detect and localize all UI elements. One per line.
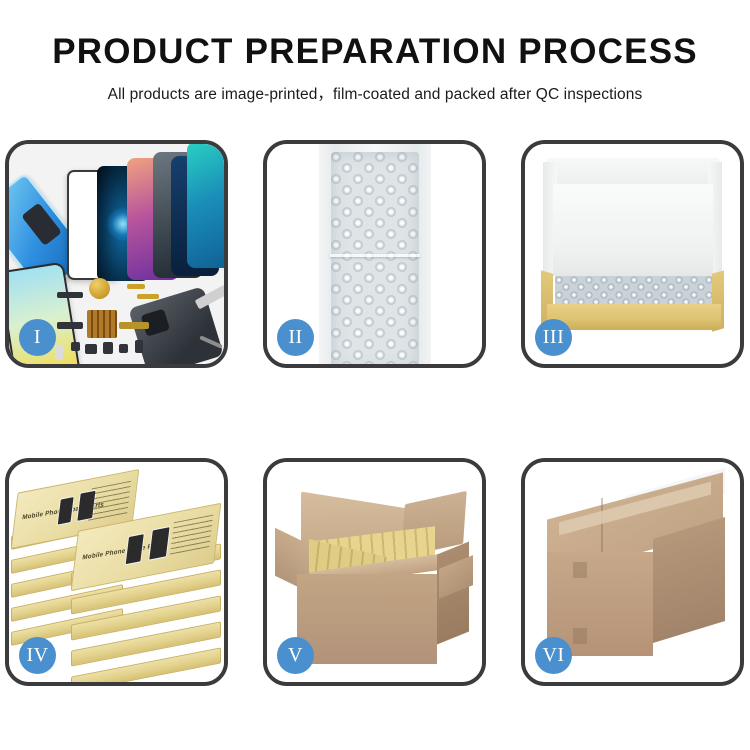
spare-part-small-3 (103, 342, 113, 354)
step-panel-2: II (263, 140, 486, 368)
step-badge-1: I (19, 319, 56, 356)
spare-part-bar-3 (137, 294, 159, 299)
spare-part-small-2 (85, 344, 97, 354)
step-panel-4: Mobile Phone Spare Parts Mobile Phone Sp… (5, 458, 228, 686)
step-badge-5: V (277, 637, 314, 674)
box-art-screen-2b (148, 526, 170, 561)
bubble-wrap (331, 152, 419, 364)
spare-part-small-6 (55, 346, 63, 360)
steps-grid: I II III (5, 140, 745, 686)
spare-part-bar-1 (57, 292, 83, 298)
page-subtitle: All products are image-printed，film-coat… (0, 82, 750, 104)
spare-part-small-5 (135, 340, 143, 353)
spare-part-bar-2 (127, 284, 145, 289)
product-preparation-infographic: PRODUCT PREPARATION PROCESS All products… (0, 0, 750, 750)
mailer-box-front-panel (547, 304, 721, 330)
step-panel-3: III (521, 140, 744, 368)
sealed-carton-seam (601, 498, 603, 555)
spare-part-small-4 (119, 344, 128, 353)
box-art-screen-1a (57, 496, 75, 526)
mailer-box-foam-liner (553, 184, 713, 276)
sealed-carton-side (653, 517, 725, 643)
step-panel-5: V (263, 458, 486, 686)
page-title: PRODUCT PREPARATION PROCESS (0, 34, 750, 71)
step-badge-4: IV (19, 637, 56, 674)
mailer-box-bubble-content (555, 276, 713, 306)
step-badge-3: III (535, 319, 572, 356)
spare-part-chip-grid (87, 310, 117, 338)
step-badge-2: II (277, 319, 314, 356)
phone-teal (187, 144, 224, 268)
box-spec-lines-1 (88, 481, 132, 524)
step-panel-1: I (5, 140, 228, 368)
step-badge-6: VI (535, 637, 572, 674)
spare-part-flex-cable-2 (119, 322, 149, 329)
box-spec-lines-2 (170, 515, 214, 558)
sealed-carton-tab-top (573, 562, 587, 578)
step-panel-6: VI (521, 458, 744, 686)
box-art-screen-2a (125, 533, 145, 565)
carton-front (297, 574, 437, 664)
sealed-carton-tab-bottom (573, 628, 587, 644)
spare-part-flex-cable-1 (57, 322, 83, 329)
bubble-wrap-seam (330, 254, 420, 257)
spare-part-speaker (89, 278, 110, 299)
header: PRODUCT PREPARATION PROCESS All products… (0, 0, 750, 104)
spare-part-small-1 (71, 342, 80, 351)
